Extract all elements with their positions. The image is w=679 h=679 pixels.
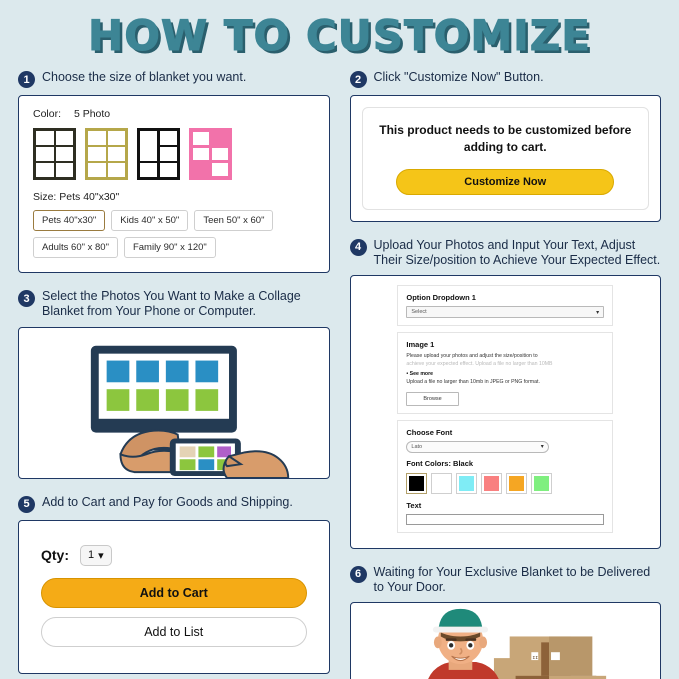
option-dropdown-label: Option Dropdown 1 <box>406 293 604 302</box>
image-upload-section: Image 1 Please upload your photos and ad… <box>397 332 613 413</box>
see-more-link[interactable]: • See more <box>406 371 604 377</box>
choose-font-label: Choose Font <box>406 428 604 437</box>
swatch-green[interactable] <box>531 473 552 494</box>
svg-text:II: II <box>532 655 538 661</box>
step-5-text: Add to Cart and Pay for Goods and Shippi… <box>42 495 293 510</box>
right-column: 2 Click "Customize Now" Button. This pro… <box>340 70 672 679</box>
add-to-list-button[interactable]: Add to List <box>41 617 307 647</box>
delivery-illustration: II II <box>351 603 661 679</box>
customize-now-button[interactable]: Customize Now <box>396 169 614 195</box>
step-6-card: II II <box>350 602 662 679</box>
step-2-header: 2 Click "Customize Now" Button. <box>350 70 662 88</box>
image-label: Image 1 <box>406 340 604 349</box>
step-3-header: 3 Select the Photos You Want to Make a C… <box>18 289 330 320</box>
size-options: Pets 40"x30" Kids 40" x 50" Teen 50" x 6… <box>33 210 315 258</box>
font-colors-label: Font Colors: Black <box>406 459 604 468</box>
swatch-cyan[interactable] <box>456 473 477 494</box>
quantity-row: Qty: 1 ▾ <box>41 545 307 566</box>
step-4-badge: 4 <box>350 239 367 256</box>
add-to-cart-button[interactable]: Add to Cart <box>41 578 307 608</box>
quantity-value: 1 <box>88 549 94 561</box>
layout-dark-grid-thumb[interactable] <box>33 128 76 180</box>
image-upload-note: Upload a file no larger than 10mb in JPE… <box>406 379 604 387</box>
step-5-card: Qty: 1 ▾ Add to Cart Add to List <box>18 520 330 674</box>
chevron-down-icon: ▾ <box>541 443 544 450</box>
step-3-badge: 3 <box>18 290 35 307</box>
chevron-down-icon: ▾ <box>596 309 599 316</box>
step-5-badge: 5 <box>18 496 35 513</box>
step-2-card: This product needs to be customized befo… <box>350 95 662 222</box>
step-6-badge: 6 <box>350 566 367 583</box>
step-1-header: 1 Choose the size of blanket you want. <box>18 70 330 88</box>
swatch-orange[interactable] <box>506 473 527 494</box>
font-section: Choose Font Lato ▾ Font Colors: Black <box>397 420 613 533</box>
step-3-card <box>18 327 330 479</box>
browse-button[interactable]: Browse <box>406 392 458 406</box>
step-2-text: Click "Customize Now" Button. <box>374 70 544 85</box>
steps-columns: 1 Choose the size of blanket you want. C… <box>0 58 679 679</box>
page-title: HOW TO CUSTOMIZE <box>0 0 679 58</box>
swatch-white[interactable] <box>431 473 452 494</box>
step-4-card: Option Dropdown 1 Select ▾ Image 1 Pleas… <box>350 275 662 548</box>
color-label: Color: <box>33 108 61 120</box>
quantity-select[interactable]: 1 ▾ <box>80 545 112 566</box>
swatch-pink[interactable] <box>481 473 502 494</box>
text-input[interactable] <box>406 514 604 525</box>
layout-pink-collage-thumb[interactable] <box>189 128 232 180</box>
layout-thumbnails <box>33 128 315 180</box>
step-4-text: Upload Your Photos and Input Your Text, … <box>374 238 662 269</box>
image-description: Please upload your photos and adjust the… <box>406 353 604 361</box>
step-6-text: Waiting for Your Exclusive Blanket to be… <box>374 565 662 596</box>
step-6-header: 6 Waiting for Your Exclusive Blanket to … <box>350 565 662 596</box>
customize-message: This product needs to be customized befo… <box>373 122 639 157</box>
step-5-header: 5 Add to Cart and Pay for Goods and Ship… <box>18 495 330 513</box>
size-label: Size: Pets 40"x30" <box>33 191 315 203</box>
left-column: 1 Choose the size of blanket you want. C… <box>8 70 340 679</box>
customize-prompt-box: This product needs to be customized befo… <box>362 107 650 210</box>
step-4-header: 4 Upload Your Photos and Input Your Text… <box>350 238 662 269</box>
color-row: Color: 5 Photo <box>33 108 315 120</box>
quantity-label: Qty: <box>41 547 69 563</box>
size-option-family[interactable]: Family 90" x 120" <box>124 237 216 258</box>
size-option-pets[interactable]: Pets 40"x30" <box>33 210 105 231</box>
font-value: Lato <box>411 444 422 450</box>
image-description-2: achieve your expected effect. Upload a f… <box>406 361 604 369</box>
layout-black-grid-thumb[interactable] <box>137 128 180 180</box>
option-dropdown-section: Option Dropdown 1 Select ▾ <box>397 285 613 326</box>
option-dropdown-select[interactable]: Select ▾ <box>406 306 604 318</box>
step-1-card: Color: 5 Photo <box>18 95 330 273</box>
chevron-down-icon: ▾ <box>98 549 104 562</box>
color-value: 5 Photo <box>74 108 110 120</box>
swatch-black[interactable] <box>406 473 427 494</box>
font-color-swatches <box>406 473 604 494</box>
font-select[interactable]: Lato ▾ <box>406 441 548 453</box>
size-option-teen[interactable]: Teen 50" x 60" <box>194 210 273 231</box>
size-option-kids[interactable]: Kids 40" x 50" <box>111 210 188 231</box>
option-dropdown-value: Select <box>411 309 426 315</box>
text-field-label: Text <box>406 501 604 510</box>
step-1-badge: 1 <box>18 71 35 88</box>
step-2-badge: 2 <box>350 71 367 88</box>
layout-olive-grid-thumb[interactable] <box>85 128 128 180</box>
photo-selection-illustration <box>19 328 329 478</box>
customizer-form-panel: Option Dropdown 1 Select ▾ Image 1 Pleas… <box>397 285 613 532</box>
infographic-page: HOW TO CUSTOMIZE 1 Choose the size of bl… <box>0 0 679 679</box>
size-option-adults[interactable]: Adults 60" x 80" <box>33 237 118 258</box>
step-1-text: Choose the size of blanket you want. <box>42 70 246 85</box>
step-3-text: Select the Photos You Want to Make a Col… <box>42 289 330 320</box>
